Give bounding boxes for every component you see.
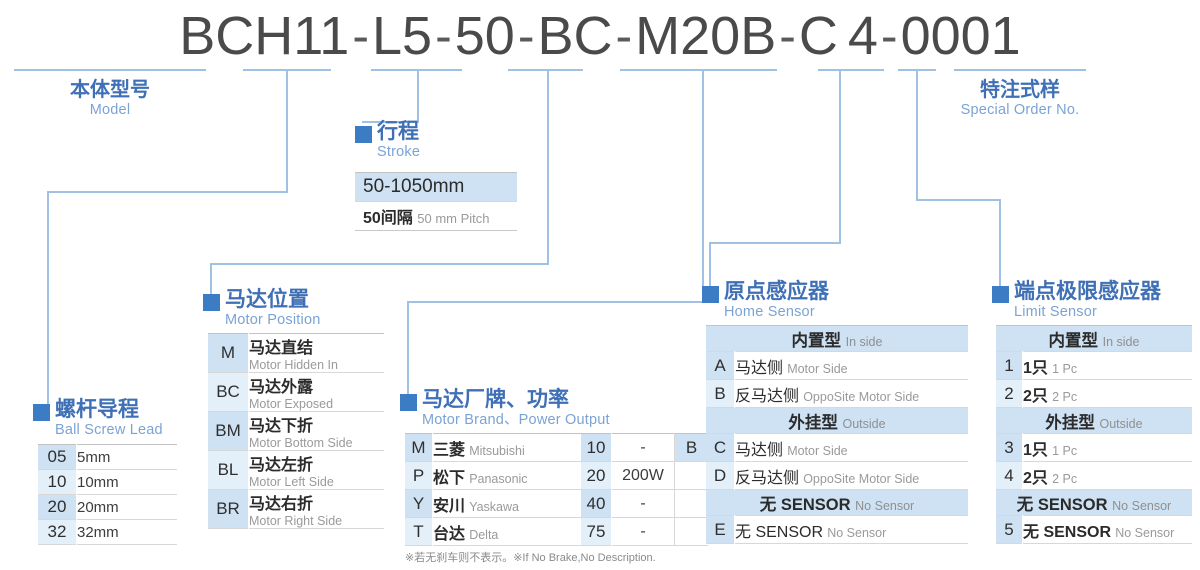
home-sensor-desc-en: OppoSite Motor Side [803,472,919,486]
brand-code: T [405,518,433,546]
motor-position-desc: 马达下折 Motor Bottom Side [249,412,385,451]
motor-position-code: BR [208,490,249,529]
brand-name: 安川 Yaskawa [433,490,582,518]
table-row[interactable]: C 马达侧 Motor Side [706,434,968,462]
group-band: 外挂型 Outside [706,408,968,434]
power-code: 10 [581,434,612,462]
lead-value: 10mm [77,470,178,495]
motor-position-header: 马达位置 Motor Position [203,288,384,329]
home-sensor-title-cn: 原点感应器 [724,280,829,304]
band-cn: 内置型 [1049,332,1099,350]
stroke-header: 行程 Stroke [355,120,420,161]
brand-name-en: Panasonic [469,472,527,486]
limit-sensor-desc: 1只 1 Pc [1023,434,1193,462]
motor-position-desc-en: Motor Left Side [249,475,384,489]
home-sensor-desc-cn: 马达侧 [735,442,783,459]
table-row[interactable]: BL 马达左折 Motor Left Side [208,451,384,490]
band-en: Outside [1100,417,1143,431]
table-row[interactable]: 2 2只 2 Pc [996,380,1192,408]
brand-name: 台达 Delta [433,518,582,546]
lead-code: 10 [38,470,77,495]
code-segment-stroke: 50 [455,6,515,66]
limit-sensor-desc-en: No Sensor [1115,526,1174,540]
brand-name-en: Mitsubishi [469,444,525,458]
table-row[interactable]: 4 2只 2 Pc [996,462,1192,490]
stroke-pitch-cn: 50间隔 [363,210,413,227]
motor-position-desc: 马达左折 Motor Left Side [249,451,385,490]
motor-position-desc-en: Motor Right Side [249,514,384,528]
table-row[interactable]: 3 1只 1 Pc [996,434,1192,462]
band-cn: 内置型 [792,332,842,350]
limit-sensor-desc: 2只 2 Pc [1023,462,1193,490]
band-cn: 无 SENSOR [760,496,851,514]
table-row[interactable]: T 台达 Delta 75 - [405,518,708,546]
stroke-range: 50-1050mm [355,172,517,201]
motor-position-desc-cn: 马达下折 [249,412,384,436]
group-band: 外挂型 Outside [996,408,1192,434]
limit-sensor-desc-en: 1 Pc [1052,362,1077,376]
motor-position-code: BC [208,373,249,412]
motor-position-desc: 马达直结 Motor Hidden In [249,334,385,373]
table-row[interactable]: D 反马达侧 OppoSite Motor Side [706,462,968,490]
home-sensor-desc-cn: 马达侧 [735,360,783,377]
table-row[interactable]: BR 马达右折 Motor Right Side [208,490,384,529]
table-row[interactable]: 20 20mm [38,495,177,520]
code-segment-home-sensor: C [799,6,838,66]
home-sensor-table: 内置型 In side A 马达侧 Motor Side B 反马达侧 Oppo [706,325,968,544]
home-sensor-code: A [706,352,735,380]
home-sensor-desc: 马达侧 Motor Side [735,434,969,462]
table-row[interactable]: P 松下 Panasonic 20 200W [405,462,708,490]
table-row[interactable]: 5 无 SENSOR No Sensor [996,516,1192,544]
limit-sensor-desc-cn: 无 SENSOR [1023,524,1111,541]
limit-sensor-desc-en: 2 Pc [1052,472,1077,486]
code-segment-lead: L5 [372,6,432,66]
home-sensor-desc: 反马达侧 OppoSite Motor Side [735,380,969,408]
limit-sensor-desc: 无 SENSOR No Sensor [1023,516,1193,544]
home-sensor-desc-en: Motor Side [787,444,847,458]
section-limit-sensor: 端点极限感应器 Limit Sensor 内置型 In side 1 1只 1 … [992,280,1192,544]
limit-sensor-title-cn: 端点极限感应器 [1014,280,1161,304]
band-en: In side [1103,335,1140,349]
home-sensor-desc-cn: 反马达侧 [735,470,799,487]
table-row[interactable]: BM 马达下折 Motor Bottom Side [208,412,384,451]
motor-position-desc-cn: 马达右折 [249,490,384,514]
motor-brand-table: M 三菱 Mitsubishi 10 - B P 松下 Panasonic 20 [405,433,708,546]
band-inside: 内置型 In side [706,326,968,352]
home-sensor-desc: 无 SENSOR No Sensor [735,516,969,544]
limit-sensor-code: 4 [996,462,1023,490]
limit-sensor-desc-cn: 1只 [1023,442,1048,459]
limit-sensor-code: 5 [996,516,1023,544]
brand-name-en: Yaskawa [469,500,519,514]
bullet-icon [203,294,220,311]
band-cn: 外挂型 [788,414,838,432]
limit-sensor-desc-cn: 2只 [1023,388,1048,405]
table-row[interactable]: M 马达直结 Motor Hidden In [208,334,384,373]
code-dash: - [776,7,799,65]
model-label: 本体型号 Model [14,78,206,119]
model-label-cn: 本体型号 [14,78,206,102]
diagram-canvas: BCH11 - L5 - 50 - BC - M20B - C 4 - 0001 [0,0,1200,570]
brand-name-en: Delta [469,528,498,542]
home-sensor-code: C [706,434,735,462]
code-segment-motor-brand: M20B [635,6,776,66]
stroke-pitch: 50间隔 50 mm Pitch [355,201,517,231]
stroke-pitch-en: 50 mm Pitch [417,211,489,226]
section-motor-position: 马达位置 Motor Position M 马达直结 Motor Hidden … [203,288,384,529]
code-dash: - [515,7,538,65]
stroke-table: 50-1050mm 50间隔 50 mm Pitch [355,172,517,231]
limit-sensor-title-en: Limit Sensor [1014,304,1161,321]
bullet-icon [702,286,719,303]
limit-sensor-code: 1 [996,352,1023,380]
motor-position-desc-cn: 马达左折 [249,451,384,475]
table-row[interactable]: E 无 SENSOR No Sensor [706,516,968,544]
motor-position-code: BL [208,451,249,490]
limit-sensor-desc-cn: 1只 [1023,360,1048,377]
table-row[interactable]: Y 安川 Yaskawa 40 - [405,490,708,518]
bullet-icon [355,126,372,143]
group-band: 无 SENSOR No Sensor [996,490,1192,516]
motor-position-code: BM [208,412,249,451]
band-en: In side [846,335,883,349]
motor-position-desc-en: Motor Hidden In [249,358,384,372]
home-sensor-desc: 反马达侧 OppoSite Motor Side [735,462,969,490]
limit-sensor-desc-en: 1 Pc [1052,444,1077,458]
band-no-sensor: 无 SENSOR No Sensor [706,490,968,516]
limit-sensor-header: 端点极限感应器 Limit Sensor [992,280,1192,321]
band-inside: 内置型 In side [996,326,1192,352]
motor-position-desc-en: Motor Exposed [249,397,384,411]
group-band: 无 SENSOR No Sensor [706,490,968,516]
band-outside: 外挂型 Outside [996,408,1192,434]
band-cn: 外挂型 [1045,414,1095,432]
special-order-label-en: Special Order No. [930,102,1110,119]
brand-code: Y [405,490,433,518]
table-row[interactable]: A 马达侧 Motor Side [706,352,968,380]
motor-position-title-en: Motor Position [225,312,320,329]
lead-value: 32mm [77,520,178,545]
lead-value: 20mm [77,495,178,520]
band-en: Outside [843,417,886,431]
code-segment-model: BCH11 [179,6,349,66]
code-dash: - [432,7,455,65]
power-desc: - [612,434,675,462]
home-sensor-desc-en: Motor Side [787,362,847,376]
home-sensor-code: D [706,462,735,490]
motor-brand-title-cn: 马达厂牌、功率 [422,388,610,412]
lead-code: 05 [38,445,77,470]
section-motor-brand: 马达厂牌、功率 Motor Brand、Power Output M 三菱 Mi… [400,388,708,565]
special-order-label: 特注式样 Special Order No. [930,78,1110,119]
special-order-label-cn: 特注式样 [930,78,1110,102]
home-sensor-desc: 马达侧 Motor Side [735,352,969,380]
stroke-title-cn: 行程 [377,120,420,144]
model-label-en: Model [14,102,206,119]
motor-brand-header: 马达厂牌、功率 Motor Brand、Power Output [400,388,708,429]
bullet-icon [33,404,50,421]
motor-position-desc: 马达右折 Motor Right Side [249,490,385,529]
band-en: No Sensor [855,499,914,513]
code-segment-motor-position: BC [537,6,612,66]
ball-screw-lead-title-cn: 螺杆导程 [55,398,163,422]
table-row[interactable]: 32 32mm [38,520,177,545]
home-sensor-code: B [706,380,735,408]
brand-name-cn: 松下 [433,470,465,487]
power-desc: 200W [612,462,675,490]
brand-name: 三菱 Mitsubishi [433,434,582,462]
home-sensor-title-en: Home Sensor [724,304,829,321]
power-code: 40 [581,490,612,518]
home-sensor-header: 原点感应器 Home Sensor [702,280,968,321]
code-dash: - [349,7,372,65]
motor-position-desc-cn: 马达外露 [249,373,384,397]
code-dash: - [878,7,901,65]
section-ball-screw-lead: 螺杆导程 Ball Screw Lead 05 5mm 10 10mm 20 2… [33,398,177,545]
brand-code: M [405,434,433,462]
table-row[interactable]: BC 马达外露 Motor Exposed [208,373,384,412]
brand-name-cn: 安川 [433,498,465,515]
bullet-icon [400,394,417,411]
stroke-title-en: Stroke [377,144,420,161]
home-sensor-desc-en: OppoSite Motor Side [803,390,919,404]
band-no-sensor: 无 SENSOR No Sensor [996,490,1192,516]
motor-position-code: M [208,334,249,373]
motor-brand-title-en: Motor Brand、Power Output [422,412,610,429]
limit-sensor-desc-cn: 2只 [1023,470,1048,487]
lead-code: 20 [38,495,77,520]
power-desc: - [612,518,675,546]
lead-code: 32 [38,520,77,545]
table-row[interactable]: 1 1只 1 Pc [996,352,1192,380]
table-row[interactable]: 05 5mm [38,445,177,470]
product-code: BCH11 - L5 - 50 - BC - M20B - C 4 - 0001 [0,6,1200,66]
brand-name: 松下 Panasonic [433,462,582,490]
limit-sensor-desc-en: 2 Pc [1052,390,1077,404]
home-sensor-desc-cn: 反马达侧 [735,388,799,405]
limit-sensor-code: 3 [996,434,1023,462]
group-band: 内置型 In side [996,326,1192,352]
motor-position-desc-cn: 马达直结 [249,334,384,358]
band-outside: 外挂型 Outside [706,408,968,434]
ball-screw-lead-table: 05 5mm 10 10mm 20 20mm 32 32mm [38,444,177,545]
limit-sensor-desc: 2只 2 Pc [1023,380,1193,408]
lead-value: 5mm [77,445,178,470]
section-stroke: 行程 Stroke [355,120,420,161]
home-sensor-desc-cn: 无 SENSOR [735,524,823,541]
motor-position-title-cn: 马达位置 [225,288,320,312]
brand-name-cn: 三菱 [433,442,465,459]
limit-sensor-code: 2 [996,380,1023,408]
band-en: No Sensor [1112,499,1171,513]
ball-screw-lead-header: 螺杆导程 Ball Screw Lead [33,398,177,439]
code-segment-limit-sensor: 4 [848,6,878,66]
limit-sensor-table: 内置型 In side 1 1只 1 Pc 2 2只 2 Pc [996,325,1192,544]
code-segment-special-order: 0001 [901,6,1021,66]
motor-position-table: M 马达直结 Motor Hidden In BC 马达外露 Motor Exp… [208,333,384,529]
code-dash: - [612,7,635,65]
power-desc: - [612,490,675,518]
home-sensor-code: E [706,516,735,544]
table-row[interactable]: B 反马达侧 OppoSite Motor Side [706,380,968,408]
table-row[interactable]: 10 10mm [38,470,177,495]
power-code: 75 [581,518,612,546]
table-row[interactable]: M 三菱 Mitsubishi 10 - B [405,434,708,462]
group-band: 内置型 In side [706,326,968,352]
power-code: 20 [581,462,612,490]
brand-code: P [405,462,433,490]
band-cn: 无 SENSOR [1017,496,1108,514]
brake-note: ※若无刹车则不表示。※If No Brake,No Description. [405,549,708,565]
home-sensor-desc-en: No Sensor [827,526,886,540]
section-home-sensor: 原点感应器 Home Sensor 内置型 In side A 马达侧 Moto… [702,280,968,544]
brand-name-cn: 台达 [433,526,465,543]
limit-sensor-desc: 1只 1 Pc [1023,352,1193,380]
motor-position-desc-en: Motor Bottom Side [249,436,384,450]
bullet-icon [992,286,1009,303]
ball-screw-lead-title-en: Ball Screw Lead [55,422,163,439]
motor-position-desc: 马达外露 Motor Exposed [249,373,385,412]
